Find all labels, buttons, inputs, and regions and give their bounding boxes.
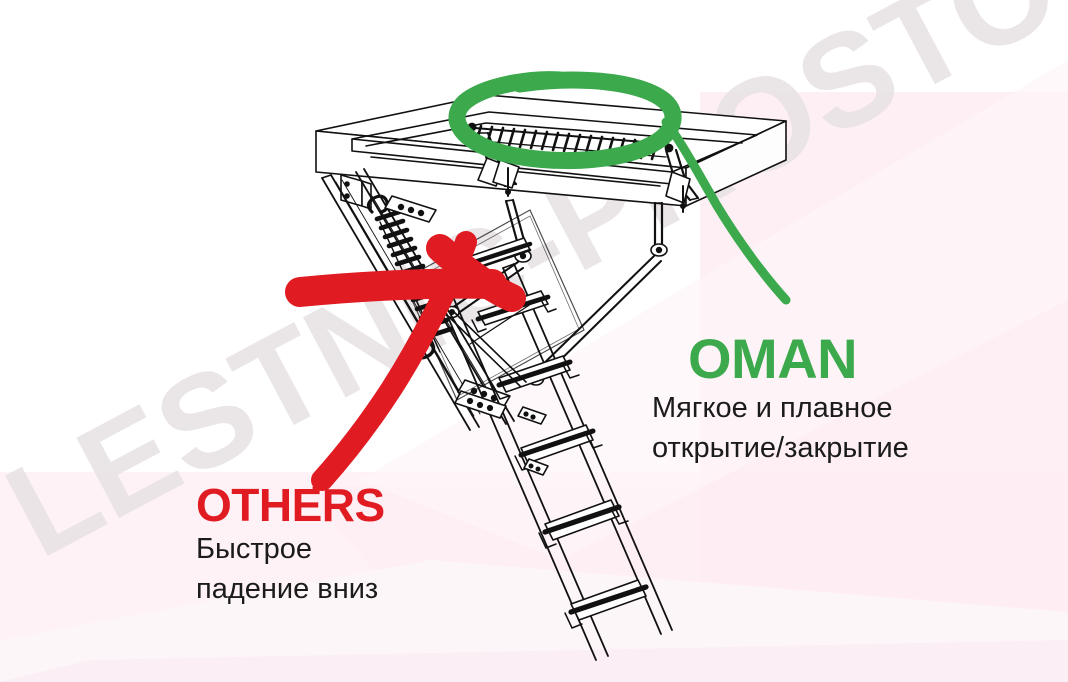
others-description-line-2: падение вниз <box>196 573 378 606</box>
oman-description-line-2: открытие/закрытие <box>652 432 909 465</box>
oman-title: OMAN <box>688 326 857 391</box>
green-circle-highlight-icon <box>457 80 786 300</box>
marker-annotations <box>0 0 1068 682</box>
oman-description-line-1: Мягкое и плавное <box>652 392 892 425</box>
others-description-line-1: Быстрое <box>196 533 312 566</box>
illustration-canvas: LESTNIC-PROSTO.RU <box>0 0 1068 682</box>
red-arrow-down-icon <box>300 242 512 488</box>
others-title: OTHERS <box>196 478 385 532</box>
